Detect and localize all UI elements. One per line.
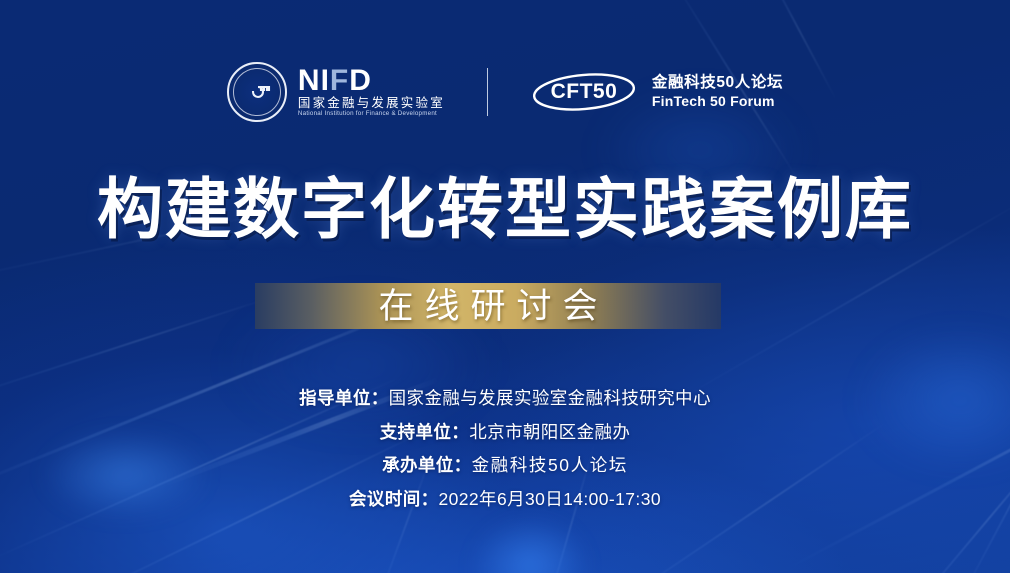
- info-label: 支持单位：: [380, 422, 470, 442]
- cft50-wordmark: 金融科技50人论坛 FinTech 50 Forum: [652, 74, 783, 109]
- info-value: 北京市朝阳区金融办: [469, 422, 630, 442]
- nifd-acronym-post: D: [349, 66, 372, 96]
- info-label: 承办单位：: [382, 455, 472, 475]
- info-label: 指导单位：: [299, 388, 389, 408]
- nifd-chinese-name: 国家金融与发展实验室: [298, 97, 445, 111]
- nifd-acronym-mid: F: [330, 66, 349, 96]
- cft50-chinese-name: 金融科技50人论坛: [652, 74, 783, 91]
- cft50-english-name: FinTech 50 Forum: [652, 94, 783, 109]
- nifd-seal-icon: [227, 62, 287, 122]
- nifd-wordmark: NIFD 国家金融与发展实验室 National Institution for…: [298, 66, 445, 119]
- info-row: 承办单位：金融科技50人论坛: [0, 457, 1010, 475]
- cft50-mark-text: CFT50: [530, 70, 638, 114]
- subtitle-banner: 在线研讨会: [255, 283, 721, 329]
- info-row: 会议时间：2022年6月30日14:00-17:30: [0, 491, 1010, 509]
- info-row: 支持单位：北京市朝阳区金融办: [0, 424, 1010, 442]
- info-value: 国家金融与发展实验室金融科技研究中心: [389, 388, 711, 408]
- info-value: 2022年6月30日14:00-17:30: [439, 489, 661, 509]
- info-label: 会议时间：: [349, 489, 439, 509]
- key-glyph-icon: [242, 84, 272, 100]
- nifd-english-name: National Institution for Finance & Devel…: [298, 111, 445, 118]
- event-poster: NIFD 国家金融与发展实验室 National Institution for…: [0, 0, 1010, 573]
- background-glow: [470, 515, 590, 573]
- event-info-block: 指导单位：国家金融与发展实验室金融科技研究中心 支持单位：北京市朝阳区金融办 承…: [0, 390, 1010, 508]
- info-row: 指导单位：国家金融与发展实验室金融科技研究中心: [0, 390, 1010, 408]
- page-title: 构建数字化转型实践案例库: [0, 176, 1010, 242]
- nifd-acronym: NIFD: [298, 66, 445, 96]
- logo-divider: [487, 68, 488, 116]
- cft50-logo: CFT50 金融科技50人论坛 FinTech 50 Forum: [530, 70, 783, 114]
- nifd-acronym-pre: NI: [298, 66, 330, 96]
- logo-bar: NIFD 国家金融与发展实验室 National Institution for…: [0, 62, 1010, 122]
- nifd-logo: NIFD 国家金融与发展实验室 National Institution for…: [227, 62, 445, 122]
- info-value: 金融科技50人论坛: [472, 455, 628, 475]
- cft50-ellipse-icon: CFT50: [530, 70, 638, 114]
- subtitle-text: 在线研讨会: [367, 289, 608, 324]
